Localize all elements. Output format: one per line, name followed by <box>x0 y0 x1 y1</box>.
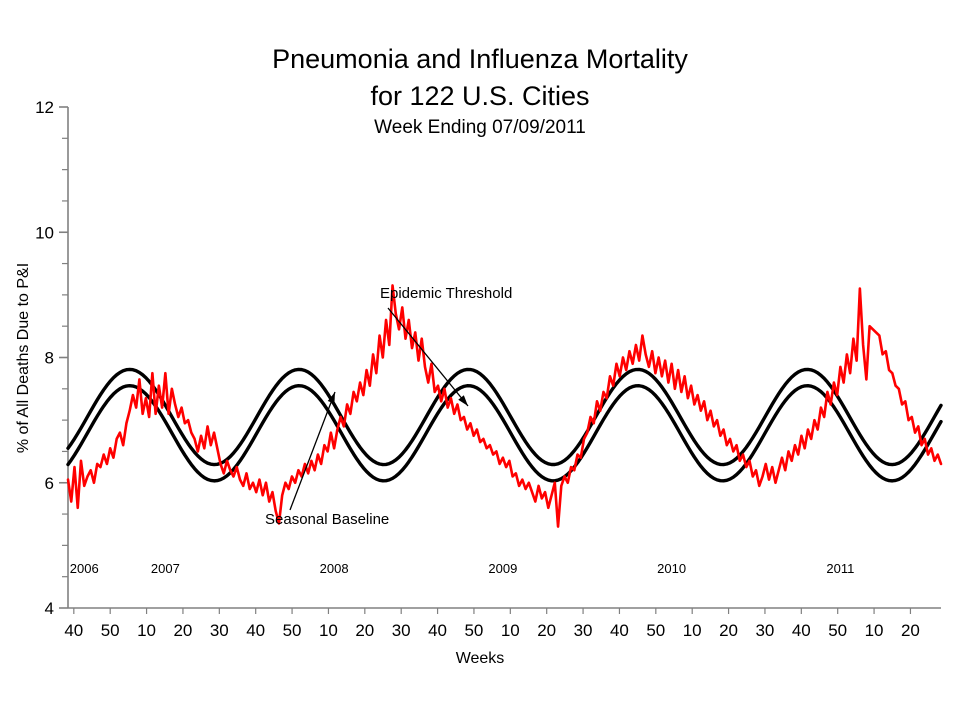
year-label: 2008 <box>320 561 349 576</box>
x-tick-label: 40 <box>428 621 447 640</box>
year-label: 2007 <box>151 561 180 576</box>
year-label: 2009 <box>488 561 517 576</box>
y-tick-label: 12 <box>35 98 54 117</box>
x-tick-label: 10 <box>501 621 520 640</box>
x-tick-label: 10 <box>319 621 338 640</box>
chart-title-line2: for 122 U.S. Cities <box>370 81 589 111</box>
y-tick-label: 4 <box>45 599 54 618</box>
x-tick-label: 20 <box>901 621 920 640</box>
pneumonia-influenza-mortality-chart: Pneumonia and Influenza Mortality for 12… <box>0 0 960 720</box>
chart-container: Pneumonia and Influenza Mortality for 12… <box>0 0 960 720</box>
x-tick-label: 50 <box>101 621 120 640</box>
chart-title-line1: Pneumonia and Influenza Mortality <box>272 44 688 74</box>
x-axis-title: Weeks <box>456 650 505 667</box>
x-tick-label: 30 <box>755 621 774 640</box>
year-label: 2006 <box>70 561 99 576</box>
x-tick-label: 40 <box>64 621 83 640</box>
x-tick-label: 50 <box>464 621 483 640</box>
y-axis-title: % of All Deaths Due to P&I <box>15 263 32 453</box>
x-tick-label: 50 <box>646 621 665 640</box>
y-tick-label: 6 <box>45 474 54 493</box>
x-tick-label: 10 <box>865 621 884 640</box>
x-tick-label: 20 <box>173 621 192 640</box>
x-tick-label: 20 <box>537 621 556 640</box>
annotation-label: Seasonal Baseline <box>265 511 389 528</box>
year-label: 2011 <box>826 561 854 576</box>
year-label: 2010 <box>657 561 686 576</box>
y-tick-label: 8 <box>45 349 54 368</box>
x-tick-label: 50 <box>283 621 302 640</box>
annotation-label: Epidemic Threshold <box>380 285 512 302</box>
chart-subtitle: Week Ending 07/09/2011 <box>374 117 586 138</box>
x-tick-label: 40 <box>792 621 811 640</box>
x-tick-label: 30 <box>392 621 411 640</box>
x-tick-label: 20 <box>355 621 374 640</box>
x-tick-label: 10 <box>137 621 156 640</box>
x-tick-label: 30 <box>574 621 593 640</box>
x-tick-label: 40 <box>610 621 629 640</box>
x-tick-label: 50 <box>828 621 847 640</box>
x-tick-label: 10 <box>683 621 702 640</box>
y-tick-label: 10 <box>35 223 54 242</box>
x-tick-label: 20 <box>719 621 738 640</box>
x-tick-label: 30 <box>210 621 229 640</box>
x-tick-label: 40 <box>246 621 265 640</box>
